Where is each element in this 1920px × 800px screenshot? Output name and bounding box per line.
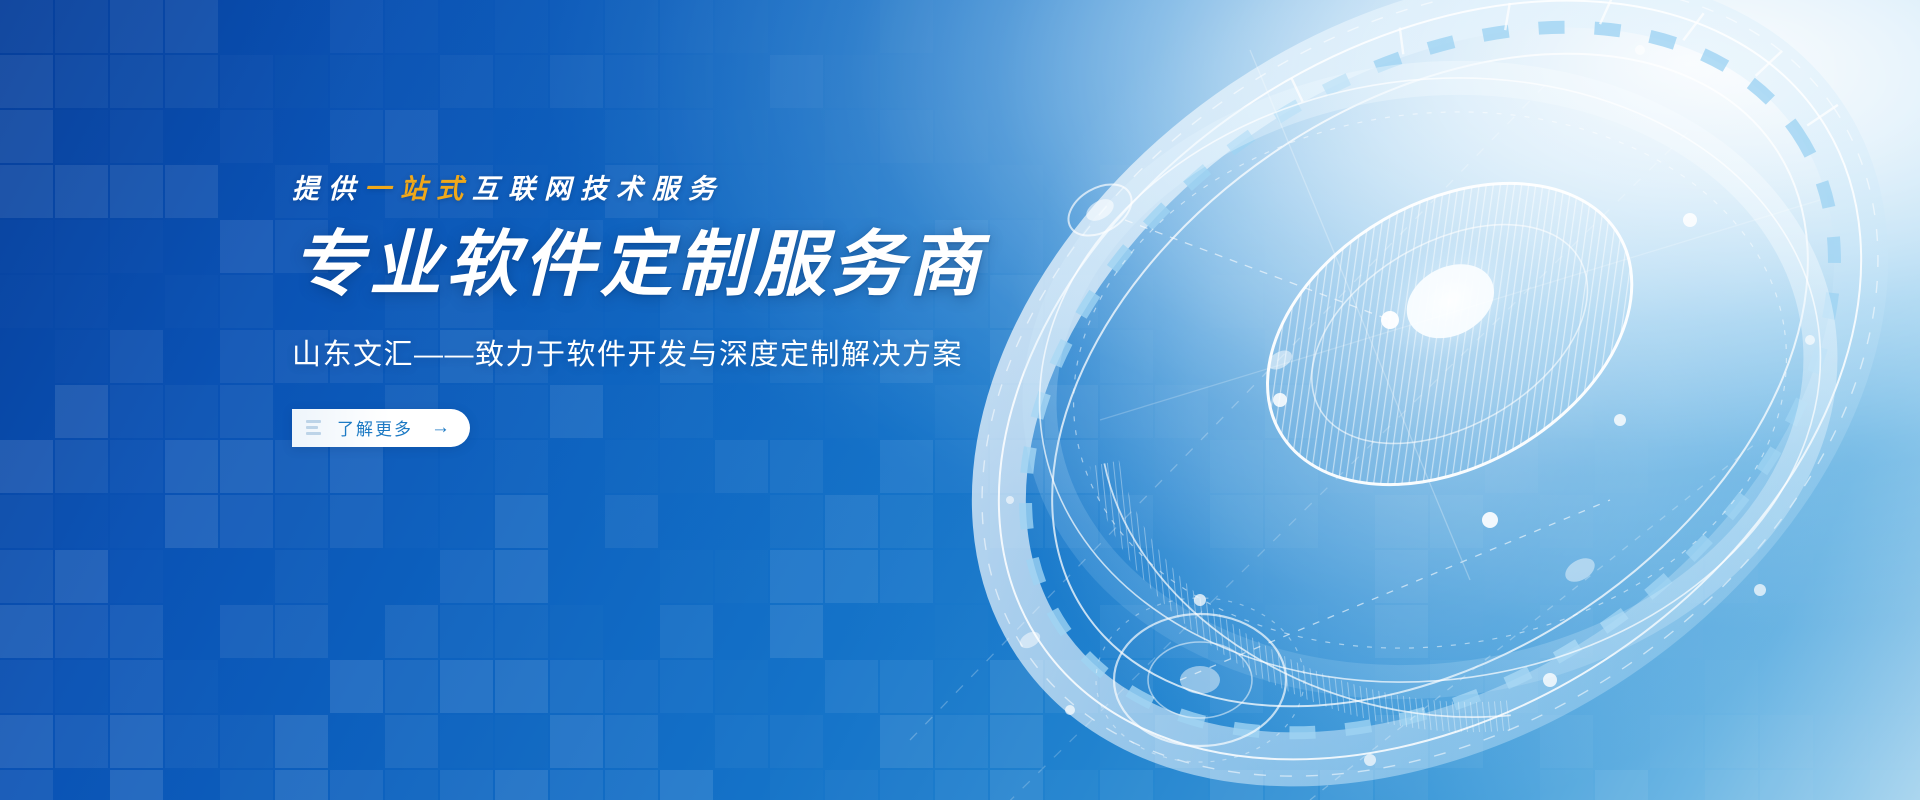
eyebrow-suffix: 互联网技术服务 [472, 174, 724, 204]
eyebrow-highlight: 一站式 [364, 174, 472, 204]
learn-more-label: 了解更多 [337, 415, 413, 440]
menu-bars-icon [306, 420, 321, 435]
hero-banner: 提供一站式互联网技术服务 专业软件定制服务商 山东文汇——致力于软件开发与深度定… [0, 0, 1920, 800]
hero-copy: 提供一站式互联网技术服务 专业软件定制服务商 山东文汇——致力于软件开发与深度定… [292, 176, 1112, 447]
eyebrow-prefix: 提供 [292, 174, 364, 204]
hero-subline: 山东文汇——致力于软件开发与深度定制解决方案 [292, 331, 1112, 373]
learn-more-button[interactable]: 了解更多 → [292, 409, 470, 447]
hero-eyebrow: 提供一站式互联网技术服务 [292, 176, 1112, 203]
hero-headline: 专业软件定制服务商 [292, 227, 1112, 305]
arrow-right-icon: → [431, 418, 450, 437]
